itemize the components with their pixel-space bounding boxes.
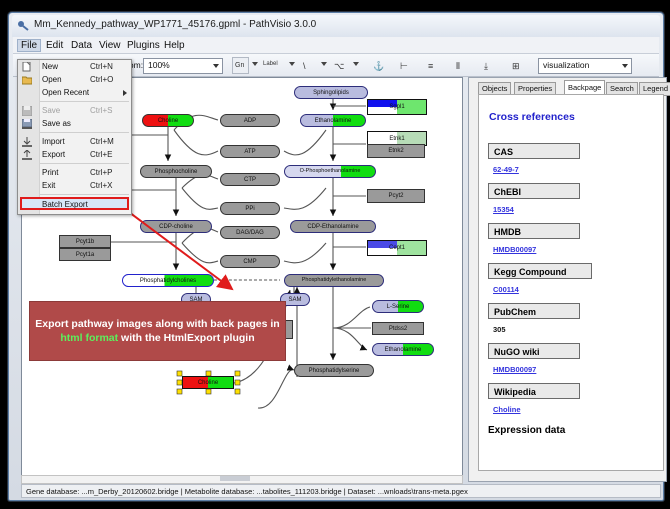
zoom-combobox[interactable]: 100%	[143, 58, 223, 74]
canvas-hscrollbar-thumb[interactable]	[220, 476, 250, 481]
submenu-arrow-icon	[123, 90, 127, 96]
node-dag[interactable]: DAG/DAG	[220, 226, 280, 239]
menu-item-import[interactable]: Import Ctrl+M	[18, 135, 131, 148]
menu-file[interactable]: File	[17, 39, 41, 52]
ref-label-wikipedia: Wikipedia	[488, 383, 580, 399]
ref-label-cas: CAS	[488, 143, 580, 159]
menu-item-save-label: Save	[42, 106, 60, 115]
menu-item-export-label: Export	[42, 150, 65, 159]
callout-highlight: html format	[60, 332, 118, 344]
side-panel: Objects Properties Backpage Search Legen…	[468, 77, 667, 482]
menu-edit[interactable]: Edit	[42, 39, 67, 52]
menu-item-batch-export-label: Batch Export	[42, 200, 88, 209]
ref-label-chebi: ChEBI	[488, 183, 580, 199]
node-cdp-ethanolamine[interactable]: CDP-Ethanolamine	[290, 220, 376, 233]
menu-item-new[interactable]: New Ctrl+N	[18, 60, 131, 73]
node-pcyt2[interactable]: Pcyt2	[367, 189, 425, 203]
menu-view[interactable]: View	[95, 39, 125, 52]
menu-item-save-as-label: Save as	[42, 119, 71, 128]
group-icon: ⊞	[512, 61, 520, 72]
file-dropdown-menu[interactable]: New Ctrl+N Open Ctrl+O Open Recent Save …	[17, 59, 132, 215]
menu-item-import-label: Import	[42, 137, 65, 146]
visualization-combobox[interactable]: visualization	[538, 58, 632, 74]
menu-item-exit-accel: Ctrl+X	[90, 181, 112, 190]
group-tool-button[interactable]: ⊞	[511, 57, 526, 72]
geneproduct-tool-button[interactable]: Gn	[232, 57, 249, 74]
stack-icon: ⤓	[484, 61, 488, 72]
menu-item-import-accel: Ctrl+M	[90, 137, 114, 146]
align-rows-icon: ≡	[428, 61, 433, 71]
save-disk-icon	[22, 106, 32, 116]
ref-value-hmdb[interactable]: HMDB00097	[493, 245, 536, 254]
interaction-icon: ⌥	[334, 61, 344, 72]
ref-value-chebi[interactable]: 15354	[493, 205, 514, 214]
interaction-tool-button[interactable]: ⌥	[333, 57, 348, 72]
save-as-icon	[22, 119, 32, 129]
menu-data[interactable]: Data	[67, 39, 96, 52]
cross-references-heading: Cross references	[489, 111, 575, 123]
menu-item-export-accel: Ctrl+E	[90, 150, 112, 159]
menu-item-exit-label: Exit	[42, 181, 55, 190]
stack-tool-button[interactable]: ⤓	[483, 57, 498, 72]
align-left-tool-button[interactable]: ⊢	[399, 57, 414, 72]
menu-item-save-as[interactable]: Save as	[18, 117, 131, 130]
annotation-callout: Export pathway images along with back pa…	[29, 301, 286, 361]
menu-item-save: Save Ctrl+S	[18, 104, 131, 117]
backpage-content: Cross references CAS 62-49-7 ChEBI 15354…	[478, 94, 664, 471]
node-sgpl1-label: Sgpl1	[368, 100, 426, 114]
align-left-icon: ⊢	[400, 61, 408, 72]
label-dropdown-icon[interactable]	[289, 62, 295, 66]
menu-item-open-recent[interactable]: Open Recent	[18, 86, 131, 99]
node-l-serine[interactable]: L-Serine	[372, 300, 424, 313]
title-bar: Mm_Kennedy_pathway_WP1771_45176.gpml - P…	[12, 15, 660, 37]
ref-label-kegg-compound: Kegg Compound	[488, 263, 592, 279]
ref-label-pubchem: PubChem	[488, 303, 580, 319]
callout-text-after: with the HtmlExport plugin	[118, 332, 255, 344]
node-phosphatidylethanolamine[interactable]: Phosphatidylethanolamine	[284, 274, 384, 287]
menu-item-print-accel: Ctrl+P	[90, 168, 112, 177]
selection-handles[interactable]	[176, 370, 242, 396]
ref-value-wikipedia[interactable]: Choline	[493, 405, 521, 414]
node-atp[interactable]: ATP	[220, 145, 280, 158]
node-cept1-label: Cept1	[368, 241, 426, 255]
import-icon	[22, 137, 32, 147]
side-panel-tabs: Objects Properties Backpage Search Legen…	[478, 80, 666, 94]
node-pcyt1b[interactable]: Pcyt1b	[59, 235, 111, 248]
menu-plugins[interactable]: Plugins	[123, 39, 164, 52]
node-ethanolamine-top[interactable]: Ethanolamine	[300, 114, 366, 127]
node-pcyt1a[interactable]: Pcyt1a	[59, 248, 111, 261]
pathvisio-icon	[17, 19, 30, 32]
node-ctp[interactable]: CTP	[220, 173, 280, 186]
geneproduct-dropdown-icon[interactable]	[252, 62, 258, 66]
line-icon: \	[303, 61, 306, 71]
node-etnk2[interactable]: Etnk2	[367, 144, 425, 158]
label-tool-button[interactable]: Label	[263, 57, 287, 72]
line-dropdown-icon[interactable]	[321, 62, 327, 66]
anchor-tool-button[interactable]: ⚓	[371, 57, 386, 72]
anchor-icon: ⚓	[373, 61, 384, 72]
menu-item-open-label: Open	[42, 75, 62, 84]
node-cept1[interactable]: Cept1	[367, 240, 427, 256]
node-cdp-choline[interactable]: CDP-choline	[140, 220, 212, 233]
ref-value-kegg-compound[interactable]: C00114	[493, 285, 519, 294]
ref-label-hmdb: HMDB	[488, 223, 580, 239]
geneproduct-icon: Gn	[235, 62, 244, 69]
menu-item-print[interactable]: Print Ctrl+P	[18, 166, 131, 179]
menu-item-batch-export[interactable]: Batch Export	[18, 197, 131, 212]
align-columns-tool-button[interactable]: ⦀	[455, 57, 470, 72]
node-ppi[interactable]: PPi	[220, 202, 280, 215]
ref-value-nugo-wiki[interactable]: HMDB00097	[493, 365, 536, 374]
status-bar: Gene database: ...m_Derby_20120602.bridg…	[21, 484, 661, 498]
line-tool-button[interactable]: \	[301, 57, 316, 72]
menu-item-open-recent-label: Open Recent	[42, 88, 89, 97]
menu-item-export[interactable]: Export Ctrl+E	[18, 148, 131, 161]
node-sgpl1[interactable]: Sgpl1	[367, 99, 427, 115]
menu-help[interactable]: Help	[160, 39, 189, 52]
zoom-value: 100%	[148, 60, 170, 70]
callout-text-before: Export pathway images along with back pa…	[35, 318, 279, 330]
align-rows-tool-button[interactable]: ≡	[427, 57, 442, 72]
node-ptdss2[interactable]: Ptdss2	[372, 322, 424, 335]
node-adp[interactable]: ADP	[220, 114, 280, 127]
menu-item-save-accel: Ctrl+S	[90, 106, 112, 115]
node-ethanolamine-bottom[interactable]: Ethanolamine	[372, 343, 434, 356]
new-file-icon	[22, 62, 32, 72]
menu-item-exit[interactable]: Exit Ctrl+X	[18, 179, 131, 192]
menu-item-open[interactable]: Open Ctrl+O	[18, 73, 131, 86]
label-icon: Label	[263, 61, 278, 67]
window-title: Mm_Kennedy_pathway_WP1771_45176.gpml - P…	[34, 19, 316, 30]
open-folder-icon	[22, 75, 32, 85]
node-phosphatidylserine[interactable]: Phosphatidylserine	[294, 364, 374, 377]
ref-value-pubchem: 305	[493, 325, 506, 334]
align-columns-icon: ⦀	[456, 61, 460, 72]
menu-bar: File Edit Data View Plugins Help	[13, 37, 659, 54]
menu-item-new-accel: Ctrl+N	[90, 62, 113, 71]
ref-value-cas[interactable]: 62-49-7	[493, 165, 519, 174]
menu-item-new-label: New	[42, 62, 58, 71]
export-icon	[22, 150, 32, 160]
screen: Mm_Kennedy_pathway_WP1771_45176.gpml - P…	[0, 0, 670, 509]
menu-item-open-accel: Ctrl+O	[90, 75, 113, 84]
node-sphingolipids[interactable]: Sphingolipids	[294, 86, 368, 99]
node-cmp[interactable]: CMP	[220, 255, 280, 268]
node-phosphatidylcholines[interactable]: Phosphatidylcholines	[122, 274, 214, 287]
node-phosphocholine[interactable]: Phosphocholine	[140, 165, 212, 178]
chevron-down-icon	[213, 64, 219, 68]
chevron-down-icon	[622, 64, 628, 68]
menu-item-print-label: Print	[42, 168, 58, 177]
canvas-hscrollbar[interactable]	[21, 475, 463, 484]
ref-label-nugo-wiki: NuGO wiki	[488, 343, 580, 359]
visualization-value: visualization	[543, 60, 589, 70]
expression-data-heading: Expression data	[488, 425, 565, 436]
application-window: Mm_Kennedy_pathway_WP1771_45176.gpml - P…	[8, 12, 664, 501]
node-choline-top[interactable]: Choline	[142, 114, 194, 127]
node-o-phosphoethanolamine[interactable]: O-Phosphoethanolamine	[284, 165, 376, 178]
interaction-dropdown-icon[interactable]	[353, 62, 359, 66]
